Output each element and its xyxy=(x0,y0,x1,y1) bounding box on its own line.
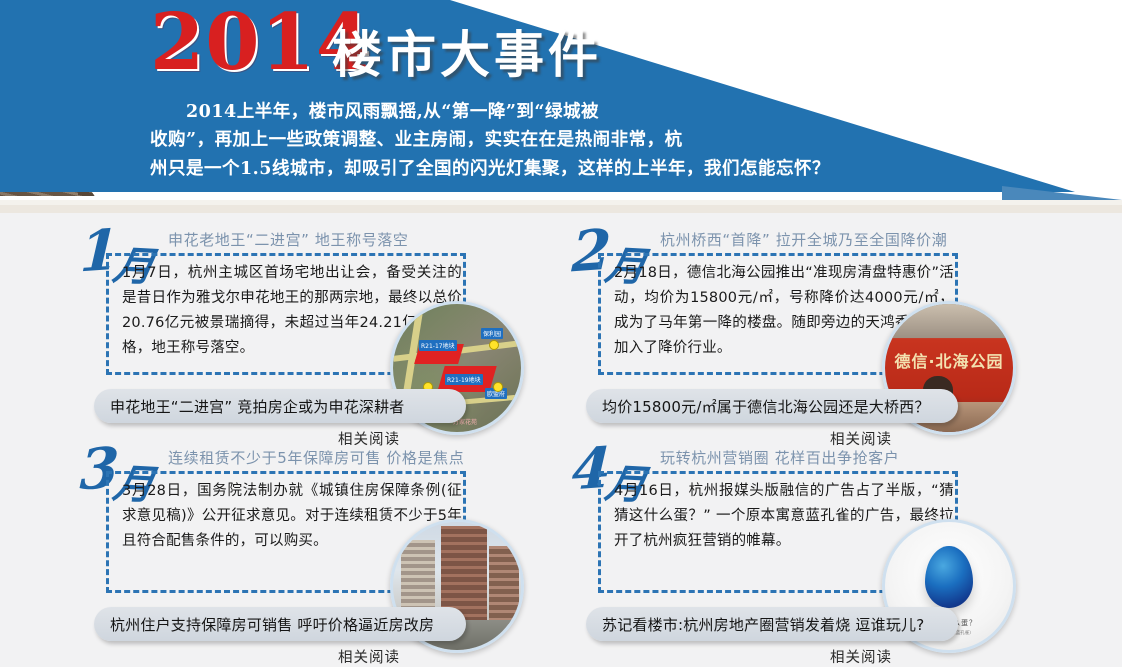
event-card-april: 4 月 玩转杭州营销圈 花样百出争抢客户 4月16日，杭州报媒头版融信的广告占了… xyxy=(562,441,1062,659)
related-link-text: 均价15800元/㎡属于德信北海公园还是大桥西？ xyxy=(602,396,930,417)
more-reading-link[interactable]: 相关阅读 xyxy=(830,646,892,667)
map-label: R21-19地块 xyxy=(445,374,483,385)
related-link-pill[interactable]: 均价15800元/㎡属于德信北海公园还是大桥西？ xyxy=(586,389,958,423)
events-grid: 1 月 申花老地王“二进宫” 地王称号落空 1月7日，杭州主城区首场宅地出让会，… xyxy=(0,215,1122,658)
event-banner-text: 德信·北海公园 xyxy=(889,348,1009,372)
divider-gloss xyxy=(0,200,1122,205)
banner-subtitle: 楼市大事件 xyxy=(332,30,602,80)
related-link-pill[interactable]: 苏记看楼市:杭州房地产圈营销发着烧 逗谁玩儿? xyxy=(586,607,958,641)
header-banner: 2014 楼市大事件 2014上半年，楼市风雨飘摇,从“第一降”到“绿城被 收购… xyxy=(0,0,1122,207)
blue-egg-icon xyxy=(925,546,973,608)
lead-line-1: 2014上半年，楼市风雨飘摇,从“第一降”到“绿城被 xyxy=(150,98,1050,126)
related-link-text: 申花地王“二进宫” 竞拍房企或为申花深耕者 xyxy=(110,396,405,417)
more-reading-link[interactable]: 相关阅读 xyxy=(338,646,400,667)
lead-line-2: 收购”，再加上一些政策调整、业主房闹，实实在在是热闹非常，杭 xyxy=(150,126,1050,154)
lead-line-3: 州只是一个1.5线城市，却吸引了全国的闪光灯集聚，这样的上半年，我们怎能忘怀？ xyxy=(150,155,1050,183)
map-pin xyxy=(489,340,499,350)
map-pin xyxy=(493,382,503,392)
related-link-text: 苏记看楼市:杭州房地产圈营销发着烧 逗谁玩儿? xyxy=(602,614,924,635)
card-title[interactable]: 申花老地王“二进宫” 地王称号落空 xyxy=(168,229,409,250)
map-label: R21-17地块 xyxy=(419,340,457,351)
related-link-pill[interactable]: 申花地王“二进宫” 竞拍房企或为申花深耕者 xyxy=(94,389,466,423)
map-label: 保利园 xyxy=(481,328,503,339)
ceiling-shape xyxy=(885,304,1013,338)
banner-title-row: 2014 楼市大事件 xyxy=(0,0,1122,100)
card-title[interactable]: 连续租赁不少于5年保障房可售 价格是焦点 xyxy=(168,447,464,468)
related-link-pill[interactable]: 杭州住户支持保障房可销售 呼吁价格逼近房改房 xyxy=(94,607,466,641)
building-shape xyxy=(489,546,519,624)
card-title[interactable]: 玩转杭州营销圈 花样百出争抢客户 xyxy=(660,447,899,468)
event-card-february: 2 月 杭州桥西“首降” 拉开全城乃至全国降价潮 2月18日，德信北海公园推出“… xyxy=(562,223,1062,441)
event-card-march: 3 月 连续租赁不少于5年保障房可售 价格是焦点 3月28日，国务院法制办就《城… xyxy=(70,441,570,659)
section-divider xyxy=(0,200,1122,213)
card-title[interactable]: 杭州桥西“首降” 拉开全城乃至全国降价潮 xyxy=(660,229,947,250)
related-link-text: 杭州住户支持保障房可销售 呼吁价格逼近房改房 xyxy=(110,614,434,635)
event-card-january: 1 月 申花老地王“二进宫” 地王称号落空 1月7日，杭州主城区首场宅地出让会，… xyxy=(70,223,570,441)
banner-lead-paragraph: 2014上半年，楼市风雨飘摇,从“第一降”到“绿城被 收购”，再加上一些政策调整… xyxy=(150,98,1050,183)
